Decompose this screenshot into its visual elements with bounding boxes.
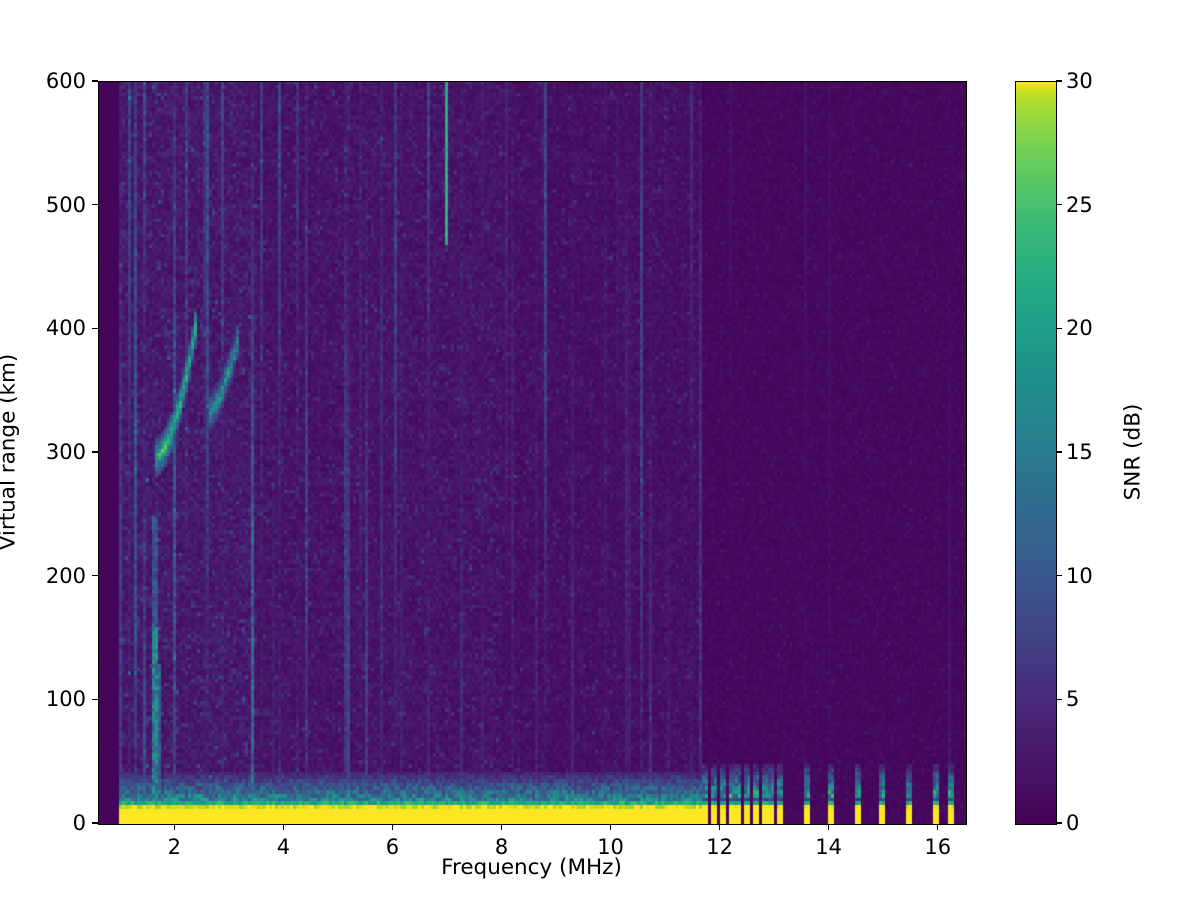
colorbar-tick-mark: [1056, 328, 1062, 329]
x-tick-mark: [610, 824, 611, 830]
y-tick-label: 0: [0, 811, 86, 835]
x-tick-mark: [174, 824, 175, 830]
y-axis-label: Virtual range (km): [0, 354, 21, 551]
x-tick-mark: [828, 824, 829, 830]
colorbar-label: SNR (dB): [1121, 404, 1146, 501]
colorbar-tick-label: 5: [1066, 687, 1079, 711]
colorbar-tick-label: 15: [1066, 440, 1093, 464]
colorbar-tick-mark: [1056, 575, 1062, 576]
x-tick-mark: [937, 824, 938, 830]
ionogram-figure: IRF Uppsala SDR Ionosonde UP158 2026-04-…: [0, 0, 1200, 900]
x-tick-mark: [392, 824, 393, 830]
snr-colorbar: [1015, 81, 1057, 825]
colorbar-tick-mark: [1056, 699, 1062, 700]
colorbar-tick-label: 0: [1066, 811, 1079, 835]
x-tick-mark: [719, 824, 720, 830]
colorbar-tick-mark: [1056, 822, 1062, 823]
colorbar-tick-label: 20: [1066, 316, 1093, 340]
x-tick-mark: [283, 824, 284, 830]
colorbar-tick-label: 30: [1066, 69, 1093, 93]
y-tick-label: 100: [0, 687, 86, 711]
colorbar-tick-mark: [1056, 451, 1062, 452]
colorbar-tick-label: 10: [1066, 564, 1093, 588]
colorbar-tick-label: 25: [1066, 193, 1093, 217]
x-tick-mark: [501, 824, 502, 830]
ionogram-axes: [98, 81, 967, 825]
y-tick-label: 200: [0, 564, 86, 588]
ionogram-heatmap: [99, 82, 966, 824]
y-tick-label: 400: [0, 316, 86, 340]
x-axis-label: Frequency (MHz): [98, 855, 965, 880]
